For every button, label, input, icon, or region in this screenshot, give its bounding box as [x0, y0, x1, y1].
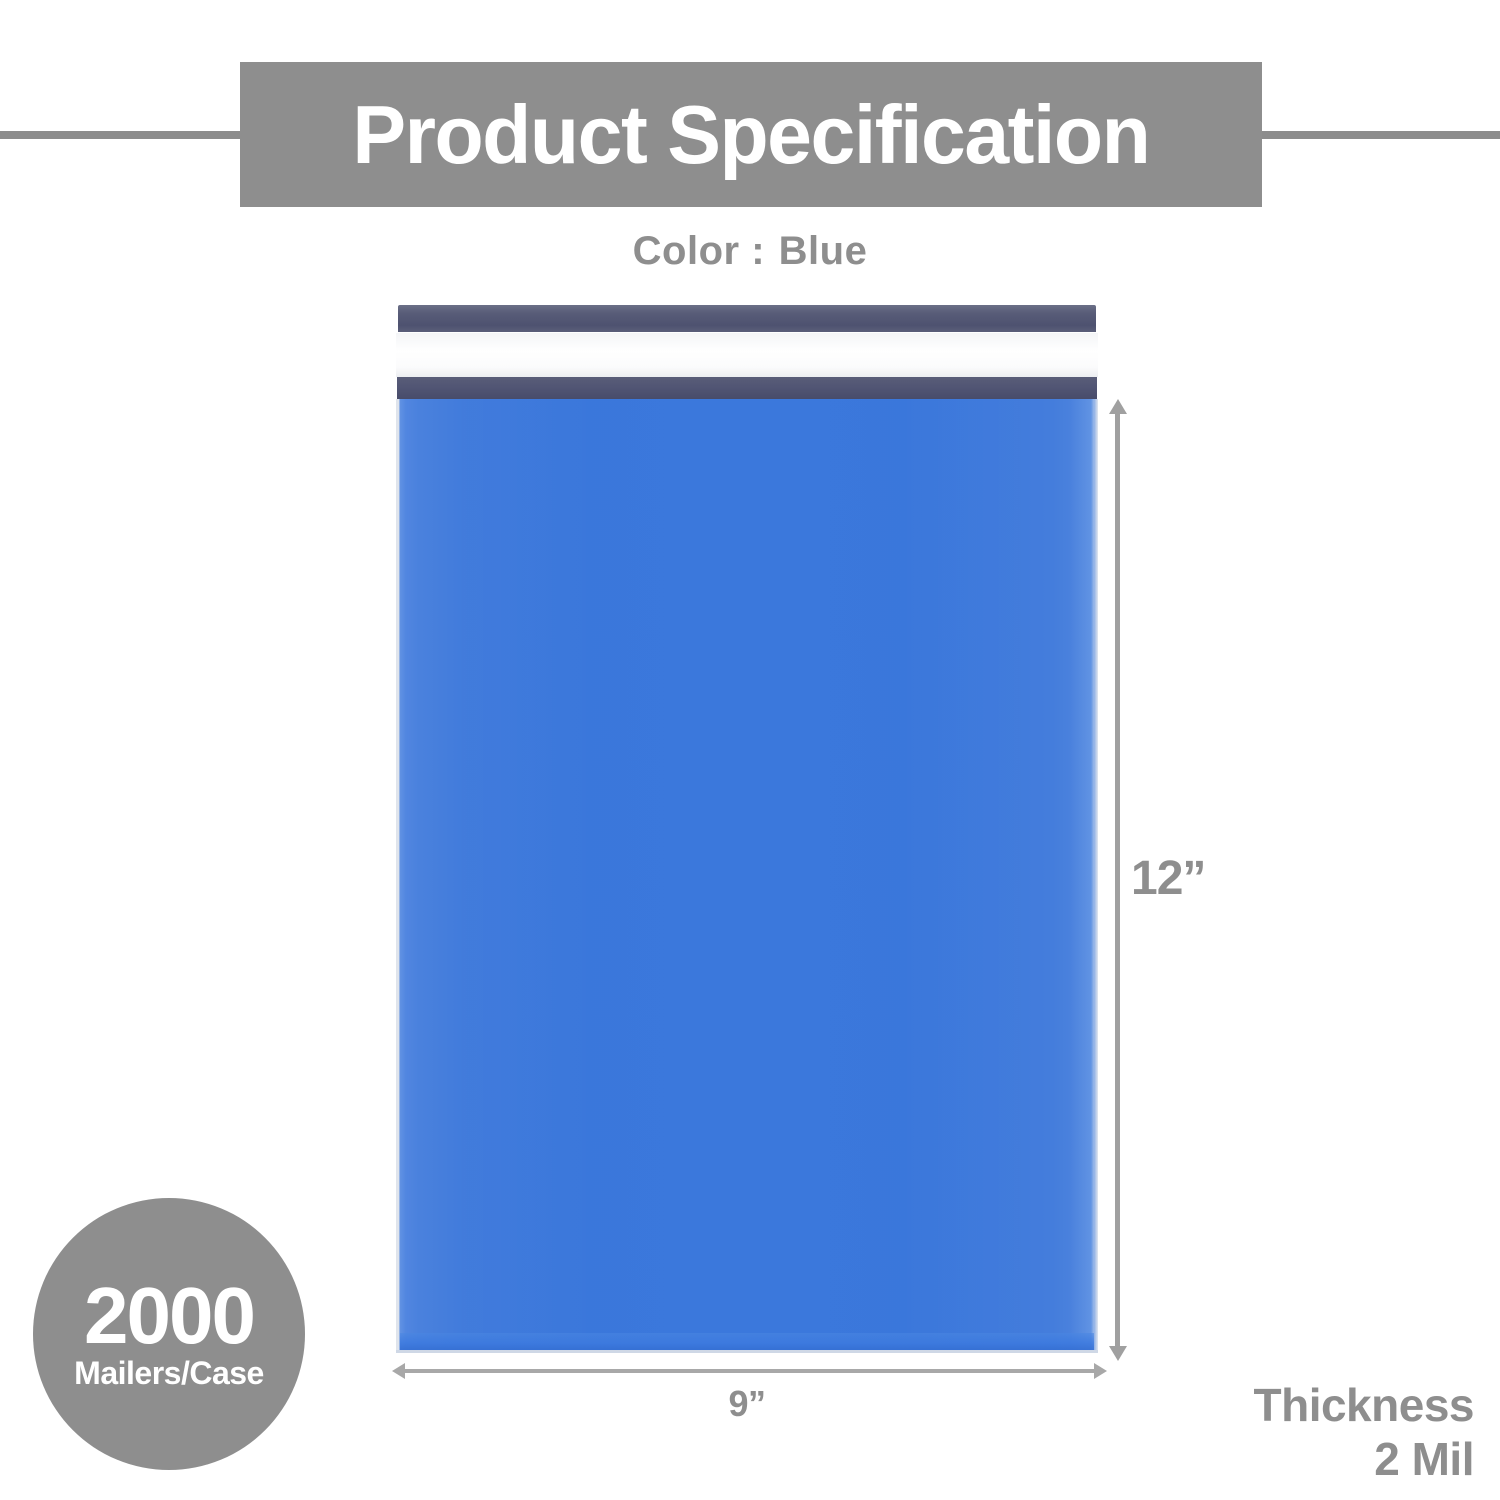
- color-label: Color : Blue: [0, 229, 1500, 274]
- height-dimension-label: 12”: [1131, 851, 1205, 906]
- bag-flap-seal-strip: [397, 377, 1097, 400]
- color-label-prefix: Color :: [633, 229, 765, 273]
- color-label-value: Blue: [779, 229, 868, 273]
- arrow-down-icon: [1109, 1346, 1127, 1361]
- thickness-value: 2 Mil: [1254, 1432, 1475, 1486]
- width-dimension-line: [392, 1366, 1107, 1376]
- bag-flap-top-strip: [398, 305, 1096, 332]
- width-dimension-shaft: [402, 1369, 1097, 1373]
- bag-flap-adhesive-strip: [396, 333, 1098, 377]
- bag-bottom-band: [400, 1333, 1094, 1351]
- badge-count: 2000: [84, 1279, 254, 1353]
- width-dimension-label: 9”: [396, 1383, 1098, 1425]
- height-dimension-shaft: [1115, 409, 1120, 1351]
- mailer-bag-illustration: [396, 305, 1098, 1353]
- arrow-right-icon: [1094, 1363, 1107, 1379]
- height-dimension-line: [1112, 399, 1122, 1361]
- quantity-badge: 2000 Mailers/Case: [33, 1198, 305, 1470]
- title-banner: Product Specification: [240, 62, 1262, 207]
- bag-bottom-edge: [396, 1350, 1098, 1353]
- badge-unit-label: Mailers/Case: [74, 1357, 264, 1389]
- thickness-block: Thickness 2 Mil: [1254, 1378, 1475, 1487]
- bag-body: [396, 399, 1098, 1353]
- bag-sheen-overlay: [400, 399, 1094, 1353]
- thickness-heading: Thickness: [1254, 1378, 1475, 1432]
- page-title: Product Specification: [352, 93, 1149, 176]
